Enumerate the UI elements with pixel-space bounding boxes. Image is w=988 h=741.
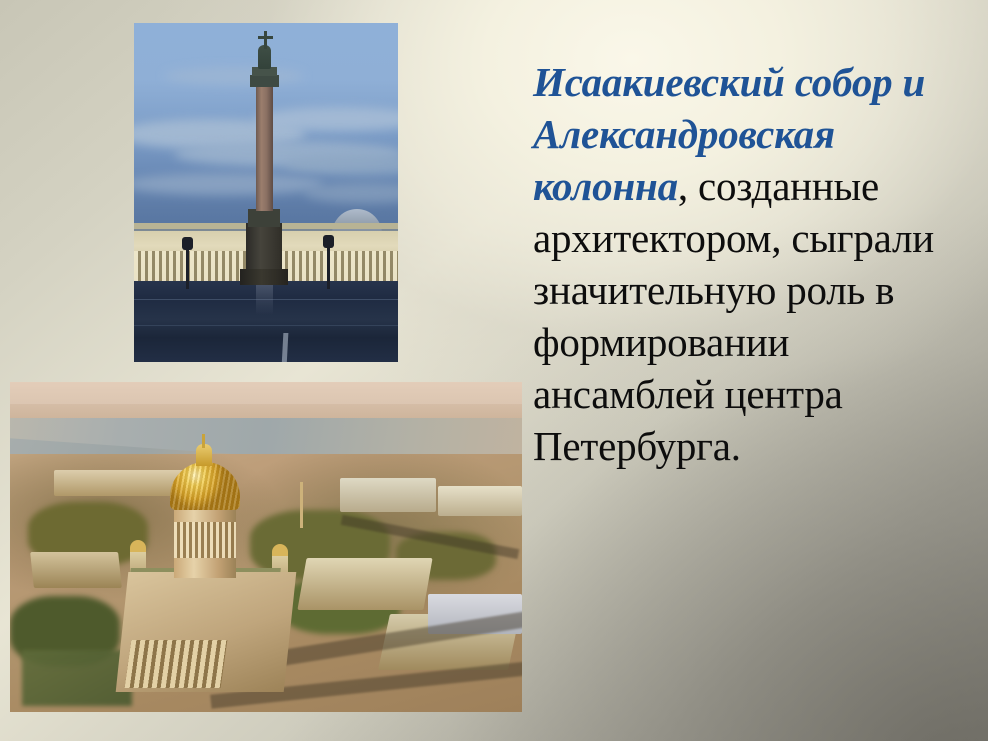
building-block <box>438 486 522 516</box>
street-lamp-head <box>323 235 334 248</box>
presentation-slide: Исаакиевский собор и Александровская кол… <box>0 0 988 741</box>
cathedral-square <box>22 650 132 706</box>
street-lamp-head <box>182 237 193 250</box>
cathedral-portico-columns <box>125 640 228 688</box>
column-shaft <box>256 85 273 211</box>
column-reflection <box>256 285 273 315</box>
column-plinth <box>248 209 280 227</box>
cloud <box>164 67 304 85</box>
belltower-cupola <box>272 544 288 556</box>
saint-isaacs-cathedral-aerial-photo <box>10 382 522 712</box>
admiralty-spire <box>300 482 303 528</box>
slide-caption: Исаакиевский собор и Александровская кол… <box>533 56 963 472</box>
column-pedestal-base <box>240 269 288 285</box>
building-block <box>297 558 432 610</box>
column-capital <box>250 75 279 87</box>
dome-spire <box>202 434 205 448</box>
building-block <box>340 478 436 512</box>
belltower-cupola <box>130 540 146 552</box>
building-block <box>30 552 122 588</box>
alexander-column-photo <box>134 23 398 362</box>
cloud <box>134 173 324 195</box>
building-block <box>54 470 184 496</box>
cathedral-colonnade <box>174 522 236 558</box>
cross-icon <box>264 31 267 49</box>
cross-icon <box>258 36 273 39</box>
